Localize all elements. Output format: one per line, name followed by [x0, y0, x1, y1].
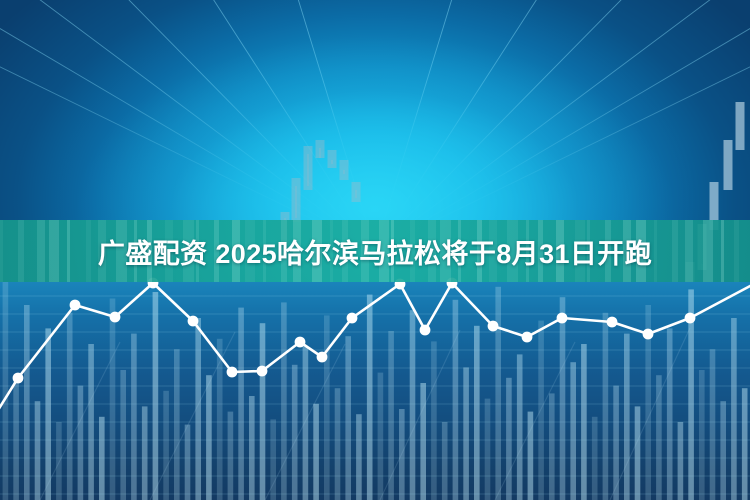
trend-line-marker — [70, 300, 81, 311]
trend-line-marker — [607, 317, 618, 328]
trend-line-marker — [257, 366, 268, 377]
stock-banner-image: 广盛配资 2025哈尔滨马拉松将于8月31日开跑 — [0, 0, 750, 500]
trend-line-marker — [188, 316, 199, 327]
page-title: 广盛配资 2025哈尔滨马拉松将于8月31日开跑 — [0, 228, 750, 274]
trend-line-marker — [347, 313, 358, 324]
trend-line-marker — [317, 352, 328, 363]
trend-line-marker — [295, 337, 306, 348]
trend-line-marker — [488, 321, 499, 332]
trend-line-marker — [227, 367, 238, 378]
trend-line-marker — [685, 313, 696, 324]
trend-line-marker — [522, 332, 533, 343]
trend-line-marker — [557, 313, 568, 324]
trend-line-marker — [643, 329, 654, 340]
trend-line-marker — [110, 312, 121, 323]
trend-line-marker — [420, 325, 431, 336]
trend-line-marker — [13, 373, 24, 384]
trend-line-path — [0, 283, 750, 415]
